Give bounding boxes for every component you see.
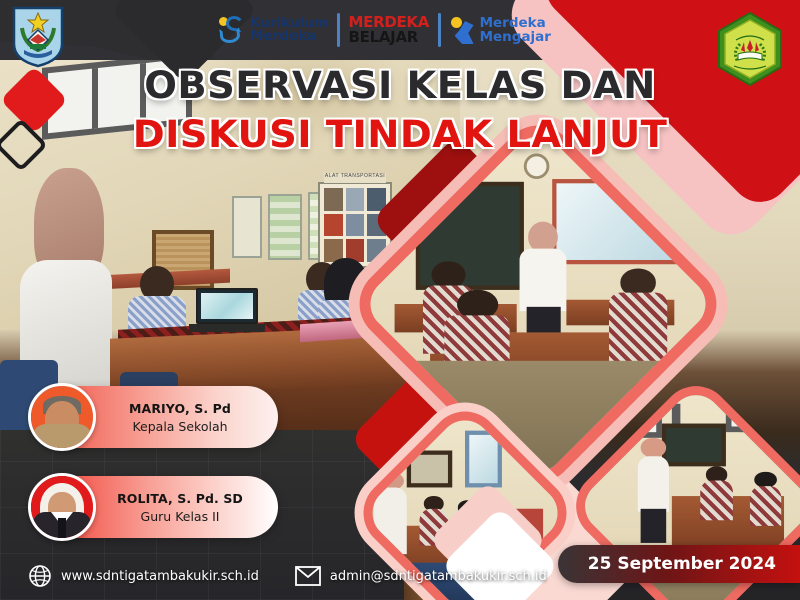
merdeka-mengajar-line2: Mengajar (480, 30, 551, 44)
merdeka-belajar-logo: MERDEKA BELAJAR (349, 15, 430, 45)
person-name: MARIYO, S. Pd (96, 401, 264, 416)
footer-website-label: www.sdntigatambakukir.sch.id (61, 569, 259, 584)
envelope-icon (295, 566, 321, 586)
kurikulum-merdeka-logo: Kurikulum Merdeka (218, 15, 328, 45)
avatar (28, 383, 96, 451)
poster-title: OBSERVASI KELAS DAN DISKUSI TINDAK LANJU… (0, 64, 800, 156)
event-date-badge: 25 September 2024 (558, 545, 800, 583)
province-emblem-icon (10, 4, 66, 68)
logo-divider-2 (438, 13, 441, 47)
footer-email-label: admin@sdntigatambakukir.sch.id (330, 569, 547, 584)
avatar (28, 473, 96, 541)
wall-poster-1 (232, 196, 262, 258)
footer-email[interactable]: admin@sdntigatambakukir.sch.id (295, 566, 547, 586)
footer-website[interactable]: www.sdntigatambakukir.sch.id (28, 564, 259, 588)
merdeka-mengajar-icon (450, 15, 475, 45)
person-role: Kepala Sekolah (96, 419, 264, 434)
wall-poster-2 (268, 194, 302, 260)
wall-poster-image-grid (324, 188, 386, 262)
kurikulum-merdeka-label: Kurikulum Merdeka (250, 17, 328, 44)
wall-poster-caption: ALAT TRANSPORTASI (324, 173, 386, 183)
title-line-2: DISKUSI TINDAK LANJUT (26, 113, 775, 156)
poster-canvas: ALAT TRANSPORTASI (0, 0, 800, 600)
logo-divider-1 (337, 13, 340, 47)
school-hexagon-logo-icon (714, 10, 786, 88)
kurikulum-merdeka-icon (218, 15, 245, 45)
merdeka-mengajar-label: Merdeka Mengajar (480, 16, 551, 44)
kurikulum-merdeka-line2: Merdeka (250, 30, 328, 44)
person-badge-kepala-sekolah[interactable]: MARIYO, S. Pd Kepala Sekolah (40, 386, 278, 448)
merdeka-mengajar-line1: Merdeka (480, 16, 551, 30)
person-badge-guru-kelas[interactable]: ROLITA, S. Pd. SD Guru Kelas II (40, 476, 278, 538)
person-name: ROLITA, S. Pd. SD (96, 491, 264, 506)
merdeka-mengajar-logo: Merdeka Mengajar (450, 15, 551, 45)
globe-icon (28, 564, 52, 588)
background-laptop (196, 288, 258, 332)
person-role: Guru Kelas II (96, 509, 264, 524)
title-line-1: OBSERVASI KELAS DAN (26, 64, 775, 107)
program-logo-row: Kurikulum Merdeka MERDEKA BELAJAR Merdek… (218, 7, 551, 53)
merdeka-belajar-line2: BELAJAR (349, 30, 430, 45)
